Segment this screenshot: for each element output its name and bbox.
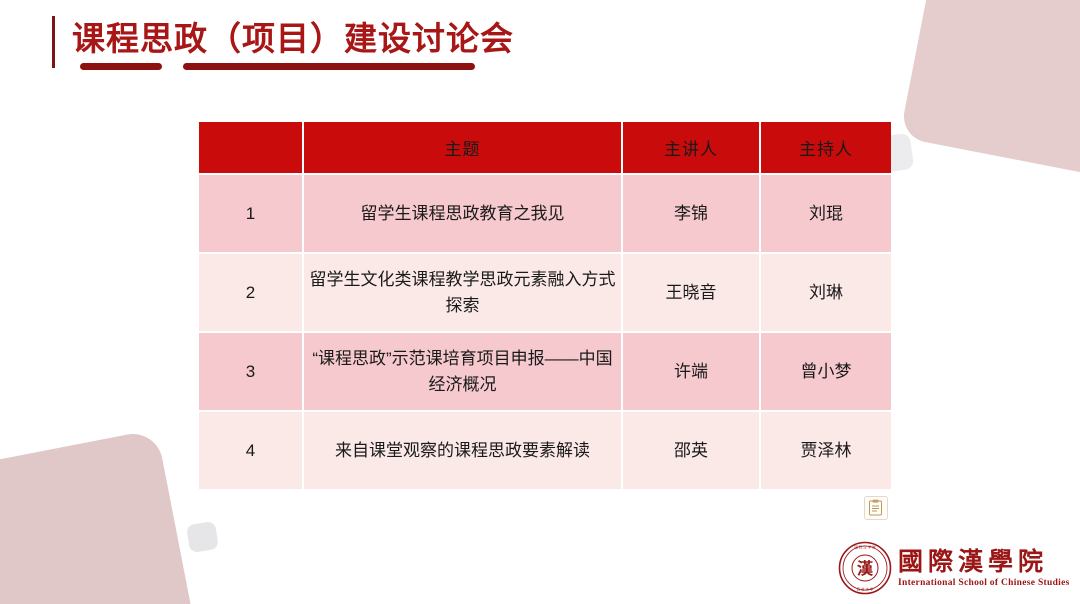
cell-index: 1 — [199, 175, 302, 252]
cell-host: 贾泽林 — [761, 412, 891, 489]
cell-index: 3 — [199, 333, 302, 410]
cell-speaker: 许端 — [623, 333, 759, 410]
column-header-index — [199, 122, 302, 173]
cell-topic: 留学生课程思政教育之我见 — [304, 175, 621, 252]
cell-speaker: 王晓音 — [623, 254, 759, 331]
table-row: 1 留学生课程思政教育之我见 李锦 刘琨 — [199, 175, 891, 252]
cell-index: 2 — [199, 254, 302, 331]
decor-pink-rect-top-right — [899, 0, 1080, 187]
svg-text:西 北 大 学: 西 北 大 学 — [857, 587, 874, 592]
logo-text-block: 國際漢學院 International School of Chinese St… — [898, 547, 1070, 590]
cell-speaker: 李锦 — [623, 175, 759, 252]
column-header-host: 主持人 — [761, 122, 891, 173]
table-header-row: 主题 主讲人 主持人 — [199, 122, 891, 173]
seal-icon: 漢 国 际 汉 学 院 西 北 大 学 — [838, 541, 892, 595]
schedule-table: 主题 主讲人 主持人 1 留学生课程思政教育之我见 李锦 刘琨 2 留学生文化类… — [197, 120, 893, 491]
table-header: 主题 主讲人 主持人 — [199, 122, 891, 173]
cell-topic: 留学生文化类课程教学思政元素融入方式探索 — [304, 254, 621, 331]
logo-name-en: International School of Chinese Studies — [898, 577, 1070, 590]
column-header-speaker: 主讲人 — [623, 122, 759, 173]
cell-topic: “课程思政”示范课培育项目申报——中国经济概况 — [304, 333, 621, 410]
cell-host: 曾小梦 — [761, 333, 891, 410]
table-body: 1 留学生课程思政教育之我见 李锦 刘琨 2 留学生文化类课程教学思政元素融入方… — [199, 175, 891, 489]
institute-logo: 漢 国 际 汉 学 院 西 北 大 学 國際漢學院 International … — [838, 539, 1074, 597]
logo-name-cn: 國際漢學院 — [898, 547, 1070, 577]
cell-speaker: 邵英 — [623, 412, 759, 489]
column-header-topic: 主题 — [304, 122, 621, 173]
title-underline-long — [183, 63, 475, 70]
title-underline-short — [80, 63, 162, 70]
cell-topic: 来自课堂观察的课程思政要素解读 — [304, 412, 621, 489]
page-title: 课程思政（项目）建设讨论会 — [72, 14, 514, 64]
svg-text:国 际 汉 学 院: 国 际 汉 学 院 — [854, 545, 876, 550]
decor-grey-square-bottom-left — [186, 521, 219, 553]
cell-host: 刘琳 — [761, 254, 891, 331]
table-row: 3 “课程思政”示范课培育项目申报——中国经济概况 许端 曾小梦 — [199, 333, 891, 410]
decor-pink-rect-bottom-left — [0, 429, 208, 604]
table-row: 4 来自课堂观察的课程思政要素解读 邵英 贾泽林 — [199, 412, 891, 489]
slide-canvas: 课程思政（项目）建设讨论会 主题 主讲人 主持人 1 留学生课程思政教育之我见 … — [0, 0, 1080, 604]
clipboard-icon — [864, 496, 888, 520]
svg-text:漢: 漢 — [857, 559, 874, 578]
title-accent-bar — [52, 16, 55, 68]
schedule-table-container: 主题 主讲人 主持人 1 留学生课程思政教育之我见 李锦 刘琨 2 留学生文化类… — [197, 120, 859, 491]
table-row: 2 留学生文化类课程教学思政元素融入方式探索 王晓音 刘琳 — [199, 254, 891, 331]
cell-host: 刘琨 — [761, 175, 891, 252]
cell-index: 4 — [199, 412, 302, 489]
